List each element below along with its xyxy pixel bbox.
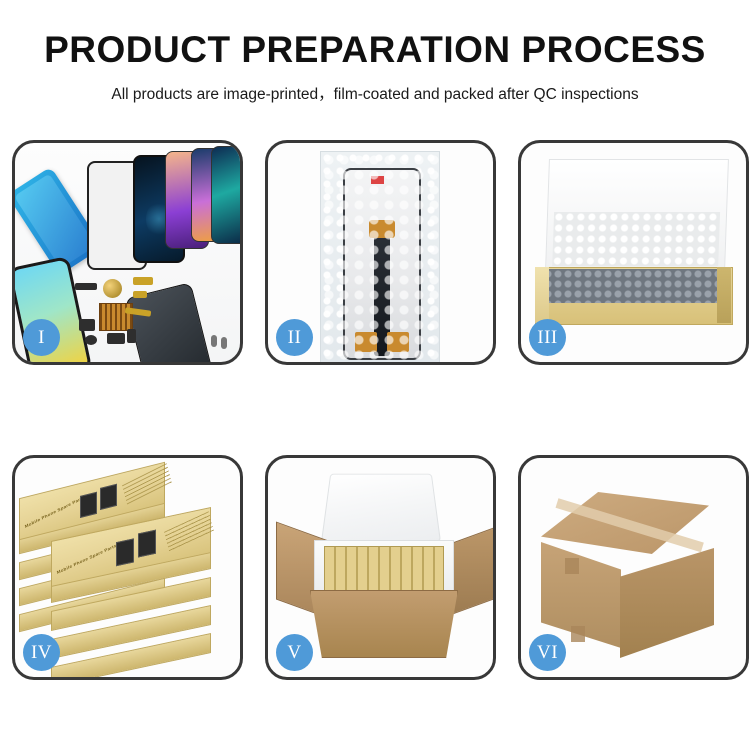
gold-box-right-edge xyxy=(717,267,731,323)
flex-cable-icon xyxy=(133,277,153,285)
button-part-icon xyxy=(85,335,97,345)
panel-step-5: V xyxy=(265,455,496,680)
panel-step-3: III xyxy=(518,140,749,365)
page-subtitle: All products are image-printed，film-coat… xyxy=(0,82,750,104)
carton-right-face xyxy=(620,548,714,658)
bubble-wrap-contents xyxy=(543,269,721,303)
step-badge-4: IV xyxy=(23,634,60,671)
screw-part-icon xyxy=(221,337,227,349)
step-badge-2: II xyxy=(276,319,313,356)
step-badge-1: I xyxy=(23,319,60,356)
carton-tab-icon xyxy=(571,626,585,642)
box-spec-lines xyxy=(122,463,172,505)
step-badge-6: VI xyxy=(529,634,566,671)
panel-step-6: VI xyxy=(518,455,749,680)
process-panel-grid: I II III xyxy=(12,140,738,680)
chip-part-icon xyxy=(75,283,97,290)
gold-box-left-edge xyxy=(535,267,549,323)
carton-body xyxy=(310,590,458,658)
phone-thumbnail-icon xyxy=(80,492,97,518)
chip-part-icon xyxy=(127,329,136,343)
step-badge-5: V xyxy=(276,634,313,671)
panel-step-1: I xyxy=(12,140,243,365)
page-header: PRODUCT PREPARATION PROCESS All products… xyxy=(0,0,750,104)
bubble-wrap-sleeve xyxy=(320,151,440,362)
panel-step-4: Mobile Phone Spare Parts Mobile Phone Sp… xyxy=(12,455,243,680)
bubble-wrap-gloss xyxy=(321,152,439,362)
box-label-text: Mobile Phone Spare Parts xyxy=(56,543,117,575)
panel-step-2: II xyxy=(265,140,496,365)
page-title: PRODUCT PREPARATION PROCESS xyxy=(0,30,750,71)
carton-tab-icon xyxy=(565,558,579,574)
phone-teal-screen-icon xyxy=(211,146,240,244)
screw-part-icon xyxy=(211,335,217,347)
step-badge-3: III xyxy=(529,319,566,356)
box-label-text: Mobile Phone Spare Parts xyxy=(24,495,85,529)
chip-part-icon xyxy=(79,319,95,331)
chip-part-icon xyxy=(107,333,125,344)
box-spec-lines xyxy=(164,511,214,552)
white-foam-lid xyxy=(545,159,729,271)
flex-cable-icon xyxy=(133,291,147,298)
phone-thumbnail-icon xyxy=(116,538,134,566)
speaker-coil-icon xyxy=(103,279,122,298)
phone-thumbnail-icon xyxy=(100,484,117,510)
phone-thumbnail-icon xyxy=(138,530,156,558)
foam-lid-open xyxy=(321,474,441,542)
